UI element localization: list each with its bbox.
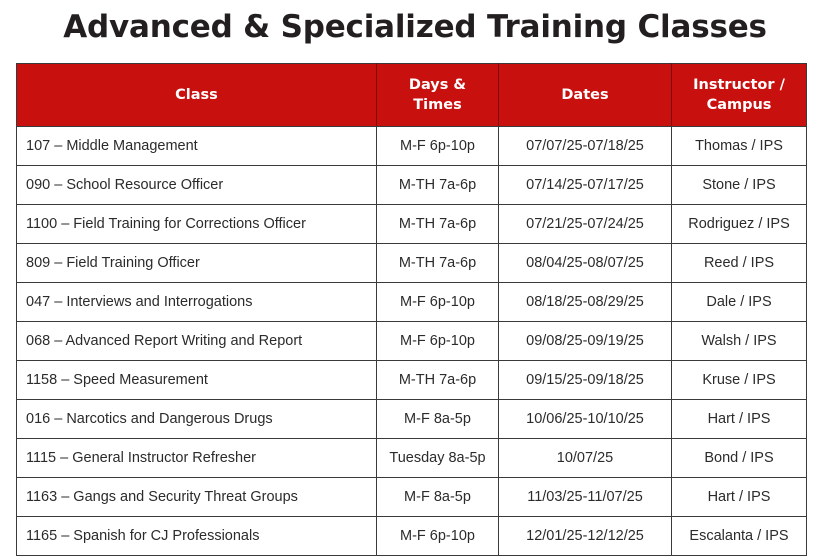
table-cell-class: 809 – Field Training Officer <box>17 244 377 283</box>
table-cell-dates: 08/04/25-08/07/25 <box>499 244 672 283</box>
table-row: 1163 – Gangs and Security Threat GroupsM… <box>17 478 807 517</box>
table-cell-class: 107 – Middle Management <box>17 127 377 166</box>
column-header-instructor-campus-line2: Campus <box>707 97 772 113</box>
table-cell-class: 1158 – Speed Measurement <box>17 361 377 400</box>
training-schedule-page: Advanced & Specialized Training Classes … <box>0 0 830 556</box>
table-row: 016 – Narcotics and Dangerous DrugsM-F 8… <box>17 400 807 439</box>
table-row: 1115 – General Instructor RefresherTuesd… <box>17 439 807 478</box>
table-row: 090 – School Resource OfficerM-TH 7a-6p0… <box>17 166 807 205</box>
table-cell-instructor-campus: Thomas / IPS <box>672 127 807 166</box>
table-cell-class: 1165 – Spanish for CJ Professionals <box>17 517 377 556</box>
table-cell-days-times: M-F 6p-10p <box>377 322 499 361</box>
table-cell-class: 1115 – General Instructor Refresher <box>17 439 377 478</box>
table-cell-days-times: M-TH 7a-6p <box>377 166 499 205</box>
table-row: 1100 – Field Training for Corrections Of… <box>17 205 807 244</box>
table-header: Class Days & Times Dates Instructor / Ca… <box>17 64 807 127</box>
table-cell-dates: 07/07/25-07/18/25 <box>499 127 672 166</box>
table-cell-days-times: M-F 8a-5p <box>377 478 499 517</box>
table-cell-instructor-campus: Rodriguez / IPS <box>672 205 807 244</box>
table-row: 1158 – Speed MeasurementM-TH 7a-6p09/15/… <box>17 361 807 400</box>
table-cell-instructor-campus: Walsh / IPS <box>672 322 807 361</box>
column-header-dates: Dates <box>499 64 672 127</box>
table-cell-instructor-campus: Bond / IPS <box>672 439 807 478</box>
table-cell-instructor-campus: Dale / IPS <box>672 283 807 322</box>
page-title: Advanced & Specialized Training Classes <box>0 6 830 48</box>
table-cell-dates: 12/01/25-12/12/25 <box>499 517 672 556</box>
table-cell-instructor-campus: Reed / IPS <box>672 244 807 283</box>
table-cell-dates: 10/07/25 <box>499 439 672 478</box>
table-row: 1165 – Spanish for CJ ProfessionalsM-F 6… <box>17 517 807 556</box>
table-cell-class: 047 – Interviews and Interrogations <box>17 283 377 322</box>
table-cell-days-times: M-TH 7a-6p <box>377 244 499 283</box>
table-cell-class: 068 – Advanced Report Writing and Report <box>17 322 377 361</box>
table-cell-instructor-campus: Hart / IPS <box>672 400 807 439</box>
table-cell-class: 1100 – Field Training for Corrections Of… <box>17 205 377 244</box>
table-cell-days-times: M-F 6p-10p <box>377 127 499 166</box>
schedule-table-container: Class Days & Times Dates Instructor / Ca… <box>16 63 806 556</box>
table-cell-days-times: M-F 6p-10p <box>377 283 499 322</box>
table-cell-dates: 11/03/25-11/07/25 <box>499 478 672 517</box>
table-cell-dates: 10/06/25-10/10/25 <box>499 400 672 439</box>
table-row: 068 – Advanced Report Writing and Report… <box>17 322 807 361</box>
table-row: 809 – Field Training OfficerM-TH 7a-6p08… <box>17 244 807 283</box>
column-header-days-times: Days & Times <box>377 64 499 127</box>
table-cell-dates: 07/21/25-07/24/25 <box>499 205 672 244</box>
table-cell-instructor-campus: Hart / IPS <box>672 478 807 517</box>
column-header-class: Class <box>17 64 377 127</box>
table-cell-class: 016 – Narcotics and Dangerous Drugs <box>17 400 377 439</box>
column-header-days-times-line2: Times <box>413 97 461 113</box>
table-body: 107 – Middle ManagementM-F 6p-10p07/07/2… <box>17 127 807 556</box>
table-cell-days-times: Tuesday 8a-5p <box>377 439 499 478</box>
table-cell-dates: 08/18/25-08/29/25 <box>499 283 672 322</box>
column-header-days-times-line1: Days & <box>409 77 466 93</box>
table-cell-class: 090 – School Resource Officer <box>17 166 377 205</box>
table-header-row: Class Days & Times Dates Instructor / Ca… <box>17 64 807 127</box>
column-header-instructor-campus: Instructor / Campus <box>672 64 807 127</box>
column-header-class-label: Class <box>175 87 218 103</box>
table-cell-dates: 09/08/25-09/19/25 <box>499 322 672 361</box>
table-cell-class: 1163 – Gangs and Security Threat Groups <box>17 478 377 517</box>
column-header-dates-label: Dates <box>561 87 608 103</box>
table-row: 047 – Interviews and InterrogationsM-F 6… <box>17 283 807 322</box>
table-cell-instructor-campus: Kruse / IPS <box>672 361 807 400</box>
table-cell-instructor-campus: Escalanta / IPS <box>672 517 807 556</box>
table-cell-dates: 09/15/25-09/18/25 <box>499 361 672 400</box>
table-cell-instructor-campus: Stone / IPS <box>672 166 807 205</box>
table-cell-dates: 07/14/25-07/17/25 <box>499 166 672 205</box>
table-row: 107 – Middle ManagementM-F 6p-10p07/07/2… <box>17 127 807 166</box>
training-classes-table: Class Days & Times Dates Instructor / Ca… <box>16 63 807 556</box>
column-header-instructor-campus-line1: Instructor / <box>693 77 785 93</box>
table-cell-days-times: M-TH 7a-6p <box>377 361 499 400</box>
table-cell-days-times: M-F 8a-5p <box>377 400 499 439</box>
table-cell-days-times: M-TH 7a-6p <box>377 205 499 244</box>
table-cell-days-times: M-F 6p-10p <box>377 517 499 556</box>
